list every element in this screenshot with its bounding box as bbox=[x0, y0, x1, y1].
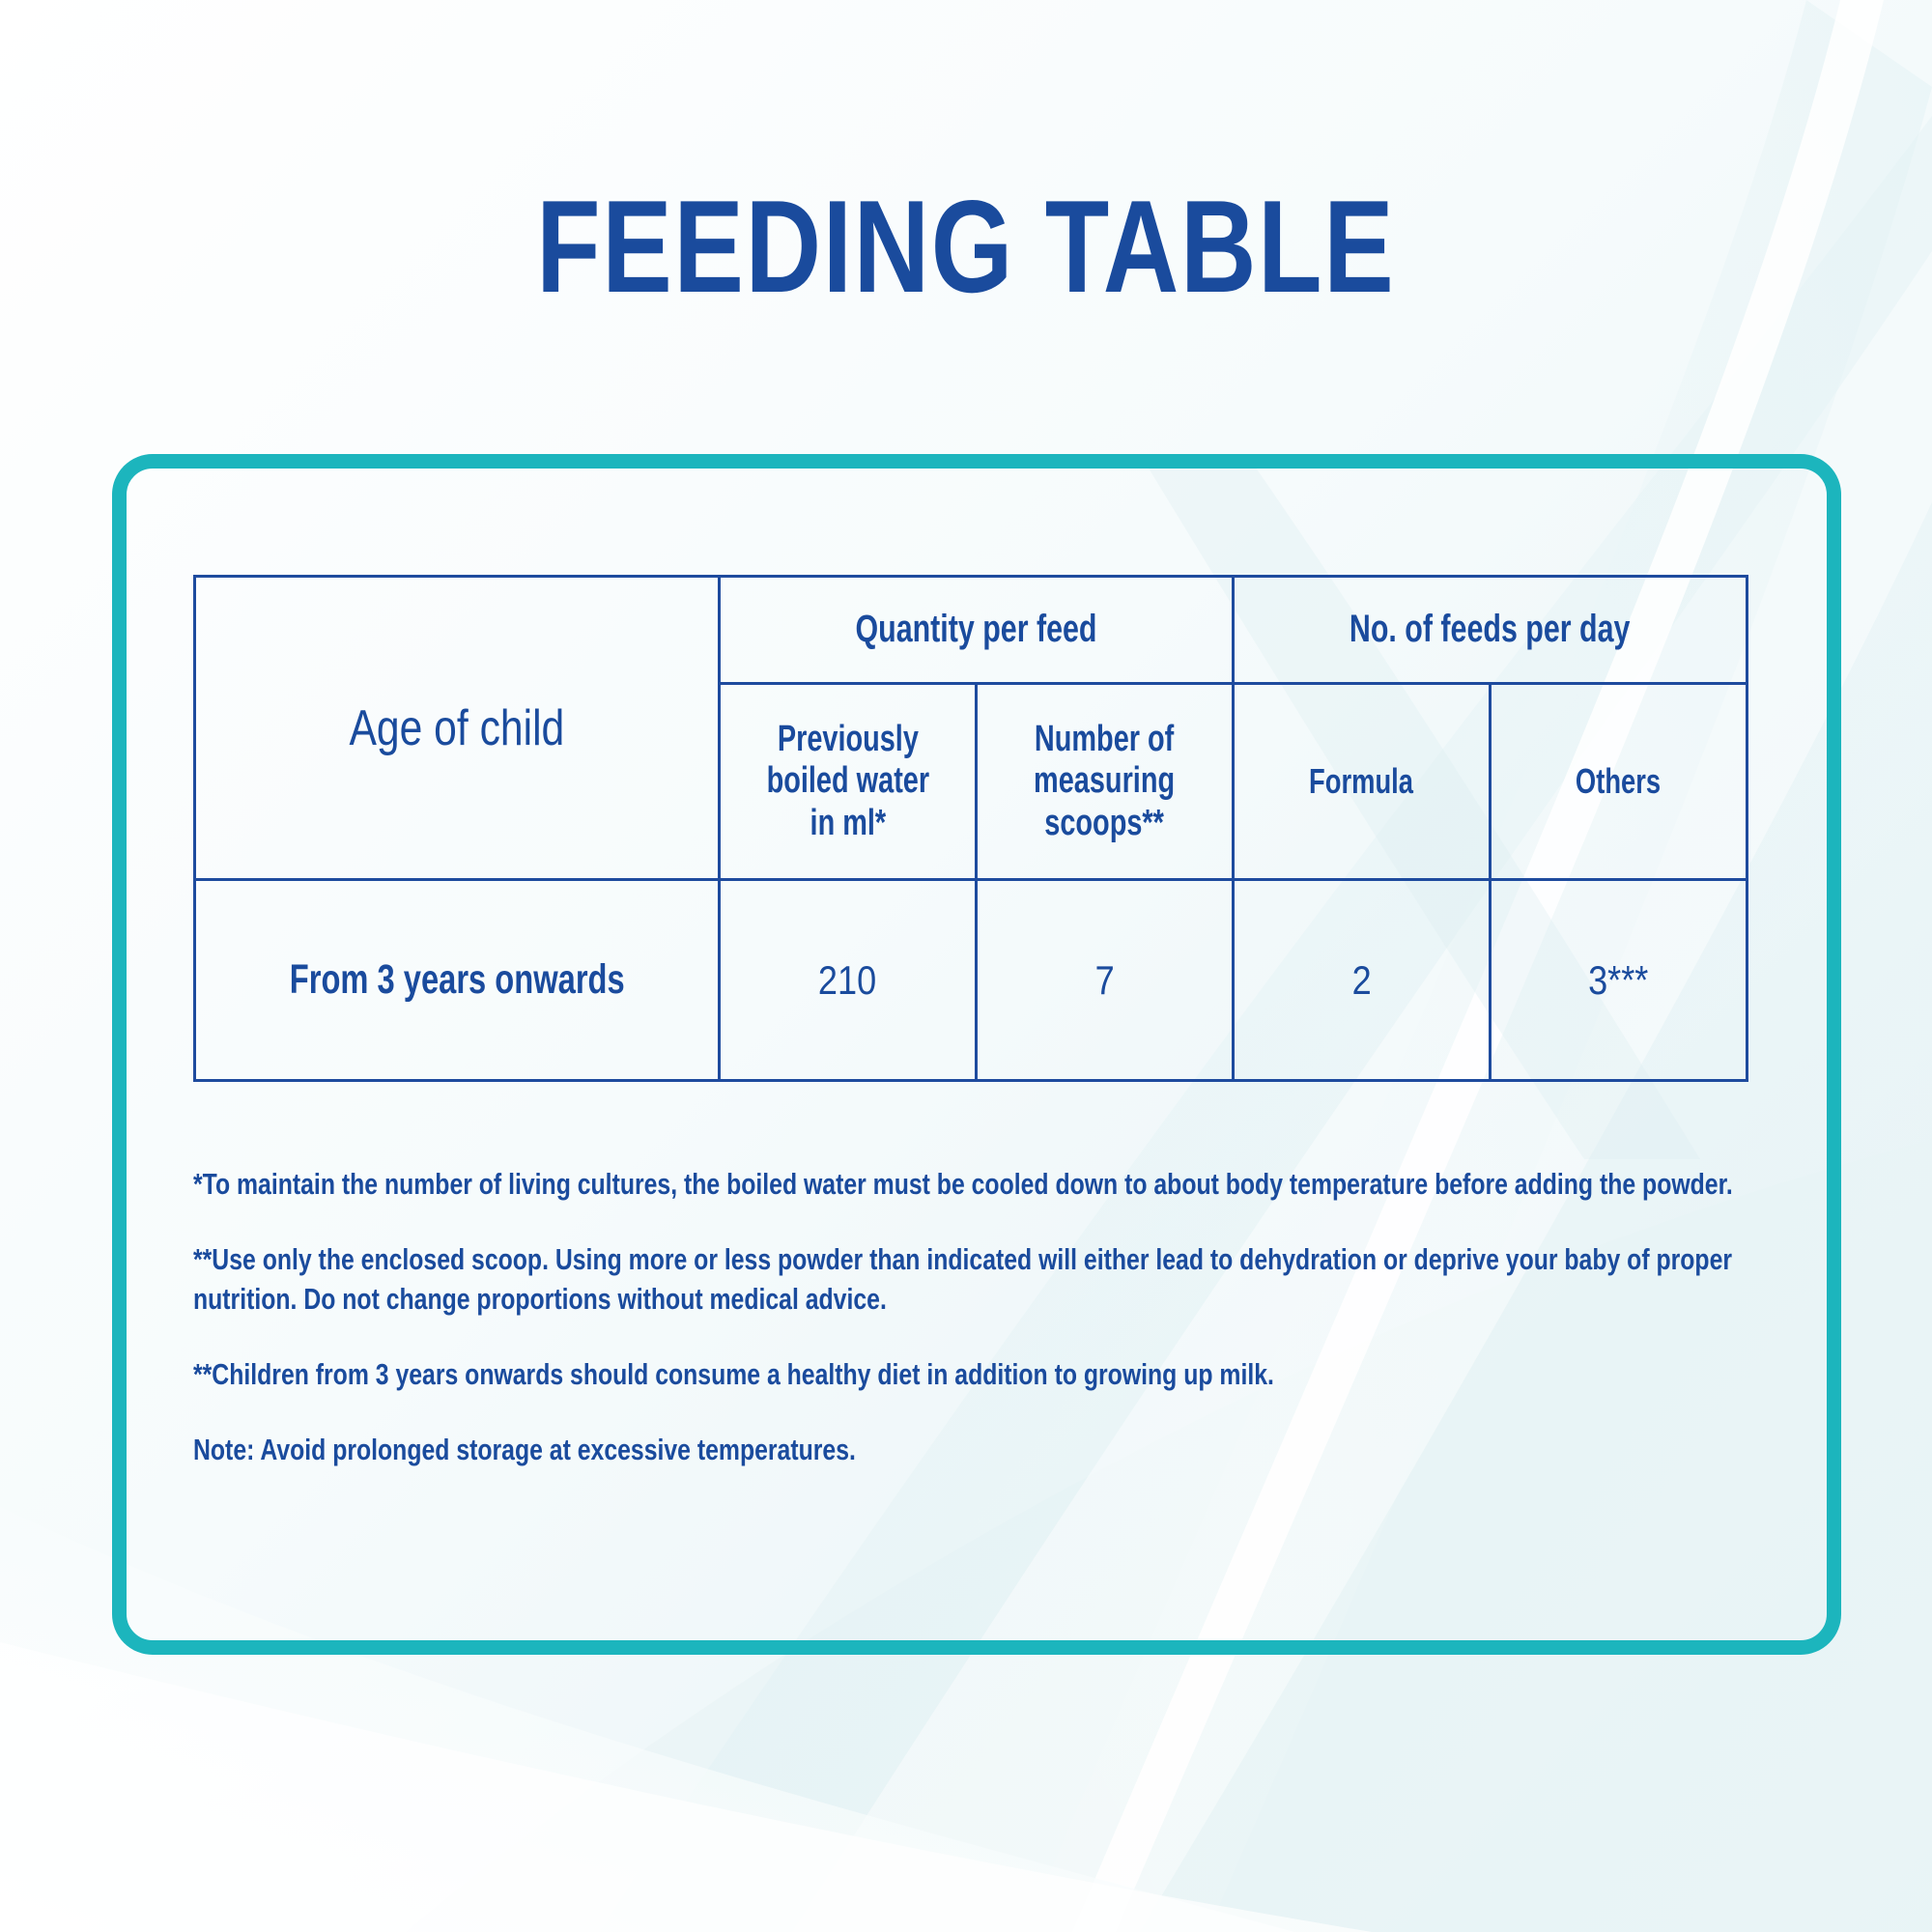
cell-age: From 3 years onwards bbox=[195, 880, 720, 1081]
cell-feeds-formula: 2 bbox=[1234, 880, 1491, 1081]
footnote-2: **Use only the enclosed scoop. Using mor… bbox=[193, 1240, 1777, 1319]
cell-scoops-value: 7 bbox=[1094, 957, 1114, 1004]
footnote-3-text: **Children from 3 years onwards should c… bbox=[193, 1355, 1777, 1394]
header-measuring-scoops: Number of measuring scoops** bbox=[977, 684, 1234, 880]
cell-feeds-others: 3*** bbox=[1491, 880, 1747, 1081]
cell-boiled-water-value: 210 bbox=[818, 957, 876, 1004]
footnotes-section: *To maintain the number of living cultur… bbox=[193, 1135, 1777, 1506]
cell-scoops: 7 bbox=[977, 880, 1234, 1081]
header-boiled-water: Previously boiled water in ml* bbox=[720, 684, 977, 880]
header-age-of-child-label: Age of child bbox=[350, 699, 565, 757]
header-formula: Formula bbox=[1234, 684, 1491, 880]
table-header-group-row: Age of child Quantity per feed No. of fe… bbox=[195, 577, 1747, 684]
table-row: From 3 years onwards 210 7 2 3*** bbox=[195, 880, 1747, 1081]
header-quantity-per-feed: Quantity per feed bbox=[720, 577, 1234, 684]
header-others: Others bbox=[1491, 684, 1747, 880]
header-others-label: Others bbox=[1576, 761, 1661, 801]
header-formula-label: Formula bbox=[1310, 761, 1414, 801]
footnote-note: Note: Avoid prolonged storage at excessi… bbox=[193, 1431, 1777, 1469]
page-title-container: FEEDING TABLE bbox=[0, 93, 1932, 400]
footnote-note-text: Note: Avoid prolonged storage at excessi… bbox=[193, 1431, 1777, 1469]
header-measuring-scoops-label: Number of measuring scoops** bbox=[1034, 719, 1175, 844]
page-title: FEEDING TABLE bbox=[536, 181, 1395, 312]
cell-age-value: From 3 years onwards bbox=[290, 956, 625, 1004]
header-feeds-per-day-label: No. of feeds per day bbox=[1350, 608, 1631, 652]
feeding-table: Age of child Quantity per feed No. of fe… bbox=[193, 575, 1748, 1082]
footnote-1-text: *To maintain the number of living cultur… bbox=[193, 1165, 1777, 1204]
footnote-1: *To maintain the number of living cultur… bbox=[193, 1165, 1777, 1204]
footnote-3: **Children from 3 years onwards should c… bbox=[193, 1355, 1777, 1394]
cell-feeds-formula-value: 2 bbox=[1351, 957, 1371, 1004]
header-feeds-per-day: No. of feeds per day bbox=[1234, 577, 1747, 684]
cell-feeds-others-value: 3*** bbox=[1588, 957, 1648, 1004]
footnote-2-text: **Use only the enclosed scoop. Using mor… bbox=[193, 1240, 1777, 1319]
header-boiled-water-label: Previously boiled water in ml* bbox=[766, 719, 929, 844]
header-quantity-per-feed-label: Quantity per feed bbox=[855, 608, 1096, 652]
cell-boiled-water: 210 bbox=[720, 880, 977, 1081]
header-age-of-child: Age of child bbox=[195, 577, 720, 880]
